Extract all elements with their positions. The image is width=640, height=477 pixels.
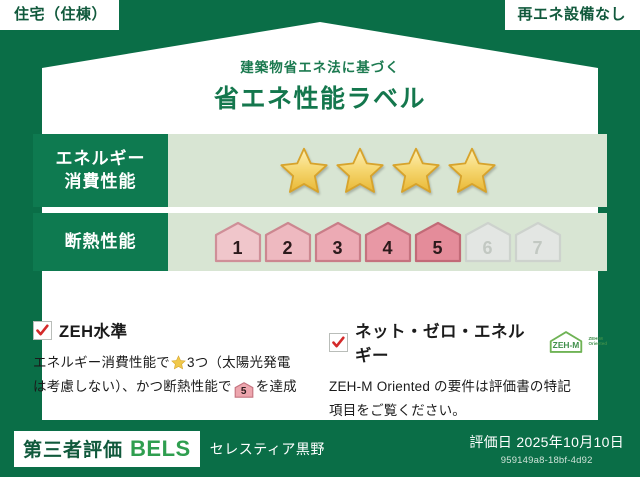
ratings-section: エネルギー 消費性能 断熱性能 xyxy=(33,134,607,277)
grade-chip-7: 7 xyxy=(514,221,562,263)
title-subtitle: 建築物省エネ法に基づく xyxy=(0,56,640,76)
grade-chip-value: 3 xyxy=(332,238,342,263)
star-icon xyxy=(335,146,385,195)
evaluation-id: 959149a8-18bf-4d92 xyxy=(469,455,624,466)
grade-chip-4: 4 xyxy=(364,221,412,263)
title-block: 建築物省エネ法に基づく 省エネ性能ラベル xyxy=(0,56,640,115)
grade-chip-3: 3 xyxy=(314,221,362,263)
star-icon xyxy=(391,146,441,195)
rating-label-insulation: 断熱性能 xyxy=(33,213,168,271)
grade-chip-5: 5 xyxy=(414,221,462,263)
note-text-part2: 3つ（太陽光発電 xyxy=(187,355,291,370)
star-icon xyxy=(335,146,385,195)
star-icon xyxy=(171,354,186,369)
note-net-zero-energy: ネット・ゼロ・エネルギー ZEH-M ZEH-M Oriented ZEH-M … xyxy=(329,318,607,422)
note-title: ZEH水準 xyxy=(59,318,128,342)
note-text-part1: エネルギー消費性能で xyxy=(33,355,170,370)
notes-section: ZEH水準 エネルギー消費性能で3つ（太陽光発電は考慮しない）、かつ断熱性能で5… xyxy=(33,318,607,422)
grade-chip-list: 1 2 3 4 5 6 7 xyxy=(214,221,562,263)
badge-renewable-energy: 再エネ設備なし xyxy=(505,0,640,30)
grade-rating: 1 2 3 4 5 6 7 xyxy=(168,213,607,271)
grade-chip-value: 2 xyxy=(282,238,292,263)
zeh-m-logo-sub2: Oriented xyxy=(588,342,607,347)
rating-label-line2: 消費性能 xyxy=(65,171,137,194)
grade-chip-value: 6 xyxy=(482,238,492,263)
rating-label-line1: エネルギー xyxy=(56,148,146,171)
grade-chip-1: 1 xyxy=(214,221,262,263)
zeh-m-logo: ZEH-M ZEH-M Oriented xyxy=(546,329,607,355)
note-body: エネルギー消費性能で3つ（太陽光発電は考慮しない）、かつ断熱性能で5を達成 xyxy=(33,351,311,398)
grade-chip-value: 1 xyxy=(232,238,242,263)
star-rating xyxy=(168,134,607,207)
building-name: セレスティア黒野 xyxy=(210,439,325,459)
rating-label-energy-consumption: エネルギー 消費性能 xyxy=(33,134,168,207)
star-icon xyxy=(447,146,497,195)
note-body: ZEH-M Oriented の要件は評価書の特記項目をご覧ください。 xyxy=(329,375,607,422)
grade-chip-inline-value: 5 xyxy=(234,382,254,401)
rating-row-energy-consumption: エネルギー 消費性能 xyxy=(33,134,607,207)
evaluation-date: 評価日 2025年10月10日 xyxy=(469,432,624,452)
badge-building-type: 住宅（住棟） xyxy=(0,0,119,30)
star-icon xyxy=(447,146,497,195)
rating-label-line1: 断熱性能 xyxy=(65,231,137,254)
note-title: ネット・ゼロ・エネルギー xyxy=(355,318,535,366)
star-icon xyxy=(279,146,329,195)
grade-chip-value: 4 xyxy=(382,238,392,263)
grade-chip-inline: 5 xyxy=(234,382,254,398)
bels-badge: 第三者評価 BELS xyxy=(14,431,200,467)
note-text-part1: ZEH-M Oriented の要件は評価書の特記 xyxy=(329,379,571,394)
evaluation-info: 評価日 2025年10月10日 959149a8-18bf-4d92 xyxy=(469,432,624,466)
svg-text:ZEH-M: ZEH-M xyxy=(553,340,580,350)
grade-chip-2: 2 xyxy=(264,221,312,263)
page-title: 省エネ性能ラベル xyxy=(0,79,640,115)
note-text-part2: 項目をご覧ください。 xyxy=(329,403,466,418)
note-text-part4: を達成 xyxy=(256,379,297,394)
star-icon xyxy=(279,146,329,195)
note-header: ZEH水準 xyxy=(33,318,311,342)
check-icon xyxy=(33,321,52,340)
grade-chip-6: 6 xyxy=(464,221,512,263)
grade-chip-value: 5 xyxy=(432,238,442,263)
check-icon xyxy=(329,333,348,352)
grade-chip-value: 7 xyxy=(532,238,542,263)
note-text-part3: は考慮しない）、かつ断熱性能で xyxy=(33,379,232,394)
energy-label-root: 住宅（住棟） 再エネ設備なし 建築物省エネ法に基づく 省エネ性能ラベル エネルギ… xyxy=(0,0,640,477)
rating-row-insulation: 断熱性能 1 2 3 4 5 6 xyxy=(33,213,607,271)
footer-bar: 第三者評価 BELS セレスティア黒野 評価日 2025年10月10日 9591… xyxy=(0,420,640,477)
note-header: ネット・ゼロ・エネルギー ZEH-M ZEH-M Oriented xyxy=(329,318,607,366)
note-zeh-standard: ZEH水準 エネルギー消費性能で3つ（太陽光発電は考慮しない）、かつ断熱性能で5… xyxy=(33,318,311,422)
star-icon xyxy=(391,146,441,195)
bels-label-en: BELS xyxy=(130,436,191,462)
bels-label-jp: 第三者評価 xyxy=(23,435,123,462)
